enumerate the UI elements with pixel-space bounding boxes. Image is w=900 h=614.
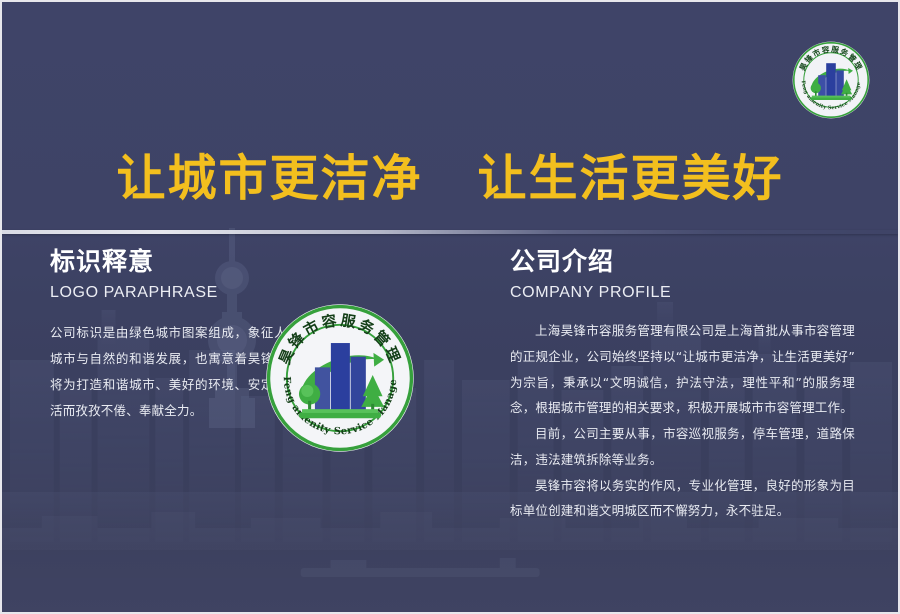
headline-part-1: 让城市更洁净 [117,154,423,203]
logo-paraphrase-column: 标识释意 LOGO PARAPHRASE 公司标识是由绿色城市图案组成，象征人、… [50,248,300,424]
profile-section-title-en: COMPANY PROFILE [510,284,855,302]
content-area: 标识释意 LOGO PARAPHRASE 公司标识是由绿色城市图案组成，象征人、… [2,248,900,588]
logo-section-body: 公司标识是由绿色城市图案组成，象征人、城市与自然的和谐发展，也寓意着昊锋市容将为… [50,320,300,424]
profile-section-title-cn: 公司介绍 [510,248,855,277]
main-headline: 让城市更洁净 让生活更美好 [2,154,898,203]
profile-paragraph-2: 目前，公司主要从事，市容巡视服务，停车管理，道路保洁，违法建筑拆除等业务。 [510,421,855,473]
profile-paragraph-1: 上海昊锋市容服务管理有限公司是上海首批从事市容管理的正规企业，公司始终坚持以“让… [510,318,855,421]
logo-section-paragraph: 公司标识是由绿色城市图案组成，象征人、城市与自然的和谐发展，也寓意着昊锋市容将为… [50,320,300,424]
poster-canvas: 昊锋市容服务管理 Hao Feng amenity Service Manage… [0,0,900,614]
headline-part-2: 让生活更美好 [477,154,783,203]
grass-base [299,412,381,418]
profile-paragraph-3: 昊锋市容将以务实的作风，专业化管理，良好的形象为目标单位创建和谐文明城区而不懈努… [510,473,855,525]
building-center [331,343,350,413]
profile-section-body: 上海昊锋市容服务管理有限公司是上海首批从事市容管理的正规企业，公司始终坚持以“让… [510,318,855,524]
main-logo-emblem-icon: 昊锋市容服务管理 Hao Feng amenity Service Manage… [264,302,416,454]
logo-section-title-en: LOGO PARAPHRASE [50,284,300,302]
company-profile-column: 公司介绍 COMPANY PROFILE 上海昊锋市容服务管理有限公司是上海首批… [510,248,855,524]
corner-logo-emblem-icon: 昊锋市容服务管理 Hao Feng amenity Service Manage… [791,40,871,120]
header-divider [2,230,898,234]
logo-section-title-cn: 标识释意 [50,248,300,277]
